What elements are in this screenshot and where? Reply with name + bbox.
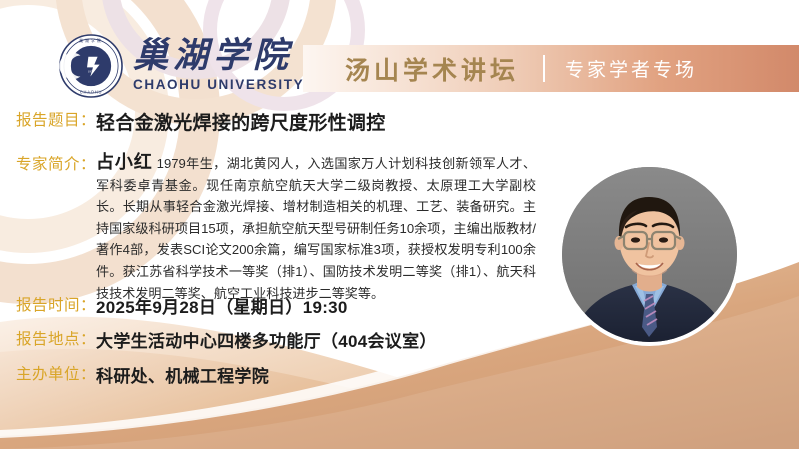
- university-logo-block: 1977 CHAOHU 巢湖学院 巢湖学院 CHAOHU UNIVERSITY: [58, 33, 304, 99]
- report-place-label: 报告地点：: [16, 327, 96, 349]
- speaker-bio-label: 专家简介：: [16, 152, 96, 174]
- report-time-label: 报告时间：: [16, 293, 96, 315]
- report-title-value: 轻合金激光焊接的跨尺度形性调控: [96, 108, 386, 135]
- report-time-value: 2025年9月28日（星期日）19:30: [96, 293, 348, 318]
- report-place-value: 大学生活动中心四楼多功能厅（404会议室）: [96, 327, 437, 352]
- report-place-row: 报告地点： 大学生活动中心四楼多功能厅（404会议室）: [16, 327, 437, 352]
- university-name-en: CHAOHU UNIVERSITY: [133, 77, 304, 92]
- speaker-name: 占小红: [96, 152, 153, 172]
- speaker-bio-row: 专家简介： 占小红1979年生，湖北黄冈人，入选国家万人计划科技创新领军人才、军…: [16, 152, 536, 304]
- report-title-row: 报告题目： 轻合金激光焊接的跨尺度形性调控: [16, 108, 386, 135]
- report-time-row: 报告时间： 2025年9月28日（星期日）19:30: [16, 293, 348, 318]
- svg-text:CHAOHU: CHAOHU: [80, 90, 102, 95]
- banner-divider: [543, 55, 545, 82]
- event-series-banner: 汤山学术讲坛 专家学者专场: [303, 45, 799, 92]
- svg-text:1977: 1977: [88, 70, 95, 74]
- speaker-portrait-image: [562, 167, 737, 342]
- speaker-portrait: [562, 167, 737, 342]
- organizer-label: 主办单位：: [16, 362, 96, 384]
- chaohu-university-seal-icon: 1977 CHAOHU 巢湖学院: [58, 33, 124, 99]
- banner-title: 汤山学术讲坛: [345, 51, 519, 87]
- speaker-bio-body: 占小红1979年生，湖北黄冈人，入选国家万人计划科技创新领军人才、军科委卓青基金…: [96, 152, 536, 304]
- banner-subtitle: 专家学者专场: [565, 55, 697, 82]
- lecture-poster: 1977 CHAOHU 巢湖学院 巢湖学院 CHAOHU UNIVERSITY …: [0, 0, 799, 449]
- svg-text:巢湖学院: 巢湖学院: [79, 38, 103, 43]
- organizer-value: 科研处、机械工程学院: [96, 362, 269, 387]
- university-name-cn: 巢湖学院: [133, 38, 304, 75]
- report-title-label: 报告题目：: [16, 108, 96, 130]
- speaker-bio-text: 1979年生，湖北黄冈人，入选国家万人计划科技创新领军人才、军科委卓青基金。现任…: [96, 156, 536, 301]
- organizer-row: 主办单位： 科研处、机械工程学院: [16, 362, 269, 387]
